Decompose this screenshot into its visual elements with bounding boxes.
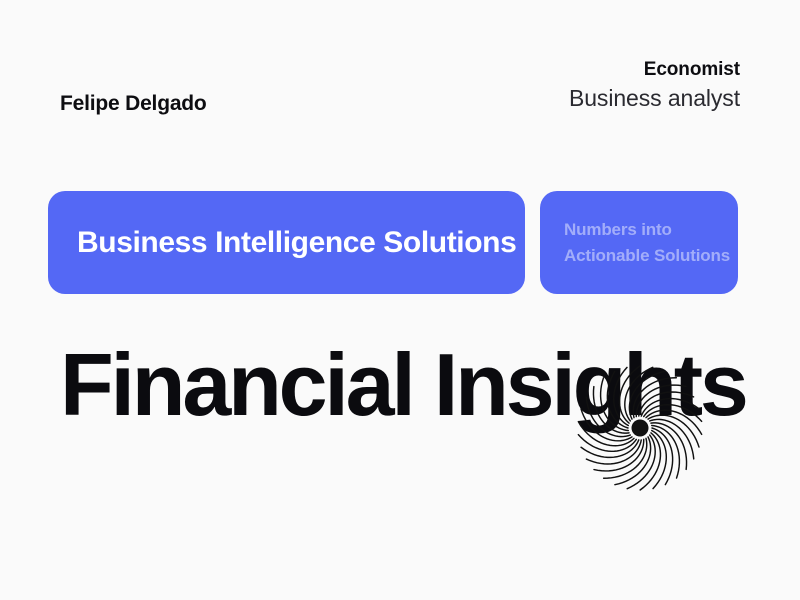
cards-row: Business Intelligence Solutions Numbers … [48, 191, 738, 294]
role-title: Economist [569, 58, 740, 82]
card-primary-label: Business Intelligence Solutions [77, 226, 516, 260]
role-block: Economist Business analyst [569, 58, 740, 114]
spiral-burst-icon [570, 358, 710, 498]
card-secondary-label: Numbers into Actionable Solutions [564, 217, 738, 267]
role-subtitle: Business analyst [569, 84, 740, 114]
card-business-intelligence[interactable]: Business Intelligence Solutions [48, 191, 525, 294]
card-numbers-into-actionable[interactable]: Numbers into Actionable Solutions [540, 191, 738, 294]
slide-canvas: Felipe Delgado Economist Business analys… [0, 0, 800, 600]
author-name: Felipe Delgado [60, 92, 207, 116]
